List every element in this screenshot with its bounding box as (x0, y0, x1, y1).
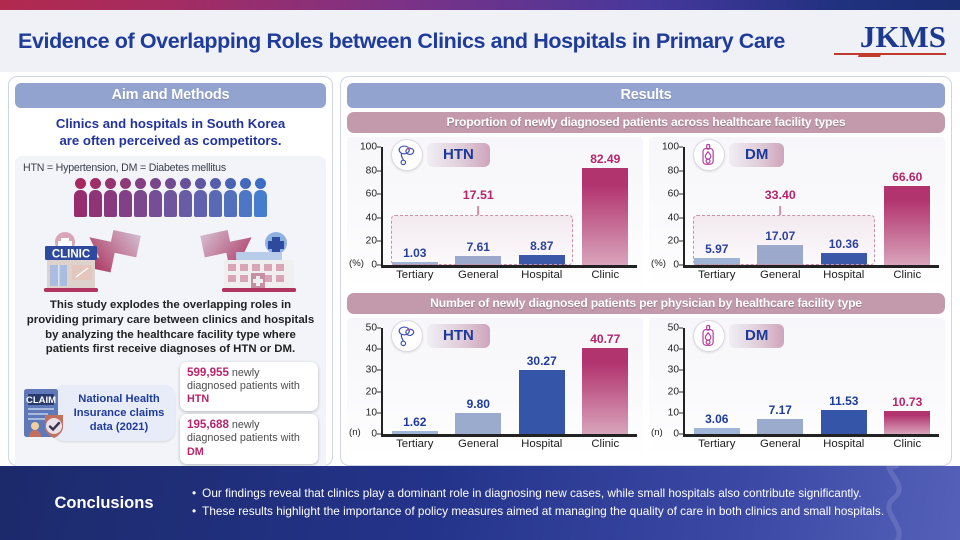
x-tick-label: General (447, 269, 511, 281)
clinic-sign-text: CLINIC (52, 249, 90, 261)
chart-dm-proportion: 020406080100(%)5.9717.0710.3666.6033.40T… (649, 137, 945, 289)
person-icon (149, 178, 163, 217)
y-axis-unit: (%) (651, 258, 666, 269)
annotation-dashed-box (693, 215, 876, 265)
claim-document-icon: CLAIM (23, 387, 65, 439)
conclusion-text: These results highlight the importance o… (202, 503, 884, 519)
person-icon (104, 178, 118, 217)
disease-badge: DM (693, 320, 784, 352)
jkms-logo-text: JKMS (826, 21, 946, 52)
y-tick-label: 10 (655, 407, 679, 418)
y-tick-label: 100 (655, 142, 679, 153)
x-tick-label: Clinic (876, 269, 940, 281)
jkms-logo: JKMS (826, 21, 946, 61)
x-tick-label: General (447, 438, 511, 450)
bullet-dot: • (192, 503, 196, 519)
bar-value-label: 66.60 (892, 170, 922, 184)
annotation-value: 17.51 (463, 188, 494, 202)
bar: 3.06 (694, 428, 740, 434)
person-icon (134, 178, 148, 217)
data-source-label: National Health Insurance claims data (2… (53, 385, 175, 441)
x-axis-labels: TertiaryGeneralHospitalClinic (685, 269, 939, 281)
x-tick-label: Clinic (574, 438, 638, 450)
data-source-group: CLAIM National Health In (23, 385, 175, 441)
x-axis-labels: TertiaryGeneralHospitalClinic (383, 269, 637, 281)
x-tick-label: Clinic (574, 269, 638, 281)
bar-value-label: 11.53 (829, 394, 858, 408)
y-tick-label: 80 (655, 165, 679, 176)
y-tick-label: 80 (353, 165, 377, 176)
chart-row-per-physician: 01020304050(n)1.629.8030.2740.77Tertiary… (347, 318, 945, 458)
glucometer-icon (693, 320, 725, 352)
aim-and-methods-panel: Aim and Methods Clinics and hospitals in… (8, 76, 333, 466)
aim-line-2: are often perceived as competitors. (21, 132, 320, 149)
y-tick-label: 100 (353, 142, 377, 153)
study-description: This study explodes the overlapping role… (23, 294, 318, 361)
blood-pressure-icon (391, 139, 423, 171)
stat-cards: 599,955 newly diagnosed patients with HT… (180, 362, 318, 464)
x-tick-label: Hospital (510, 269, 574, 281)
bar-cell: 40.77 (574, 328, 638, 434)
x-tick-label: Tertiary (685, 438, 749, 450)
person-icon (209, 178, 223, 217)
person-icon (164, 178, 178, 217)
x-tick-label: General (749, 269, 813, 281)
page-title: Evidence of Overlapping Roles between Cl… (18, 29, 826, 54)
bar: 82.49 (582, 168, 628, 265)
bar: 40.77 (582, 348, 628, 434)
bar: 11.53 (821, 410, 867, 434)
x-axis-line (381, 434, 637, 437)
bar-value-label: 1.62 (403, 415, 426, 429)
conclusions-title: Conclusions (16, 494, 192, 513)
y-tick-label: 50 (353, 323, 377, 334)
person-icon (89, 178, 103, 217)
x-axis-line (683, 434, 939, 437)
stat-disease: HTN (187, 393, 209, 405)
annotation-tick (779, 206, 781, 215)
y-tick-label: 50 (655, 323, 679, 334)
competition-illustration: CLINIC (23, 176, 318, 294)
disease-badge: DM (693, 139, 784, 171)
annotation-dashed-box (391, 215, 574, 265)
disease-badge: HTN (391, 139, 490, 171)
stat-card: 195,688 newly diagnosed patients with DM (180, 414, 318, 464)
y-tick-label: 60 (655, 189, 679, 200)
x-tick-label: Tertiary (383, 269, 447, 281)
disease-badge-label: HTN (427, 143, 490, 167)
y-tick-label: 10 (353, 407, 377, 418)
y-tick-label: 40 (353, 212, 377, 223)
x-tick-label: Hospital (812, 438, 876, 450)
clinic-building-icon: CLINIC (39, 232, 125, 294)
y-tick-label: 20 (655, 386, 679, 397)
patients-group-icon (74, 178, 268, 217)
poster-header: Evidence of Overlapping Roles between Cl… (0, 10, 960, 72)
x-tick-label: Hospital (510, 438, 574, 450)
y-axis-unit: (%) (349, 258, 364, 269)
chart-htn-proportion: 020406080100(%)1.037.618.8782.4917.51Ter… (347, 137, 643, 289)
chart-row-proportion: 020406080100(%)1.037.618.8782.4917.51Ter… (347, 137, 945, 289)
stat-number: 195,688 (187, 418, 229, 431)
bar-cell: 30.27 (510, 328, 574, 434)
methods-box: HTN = Hypertension, DM = Diabetes mellit… (15, 156, 326, 469)
claim-label-text: CLAIM (26, 395, 56, 406)
conclusion-bullet: •Our findings reveal that clinics play a… (192, 485, 884, 501)
x-axis-line (381, 265, 637, 268)
aim-statement: Clinics and hospitals in South Korea are… (15, 108, 326, 155)
data-source-row: CLAIM National Health In (23, 362, 318, 464)
aim-methods-header: Aim and Methods (15, 83, 326, 108)
x-tick-label: Clinic (876, 438, 940, 450)
conclusion-text: Our findings reveal that clinics play a … (202, 485, 861, 501)
bar: 66.60 (884, 186, 930, 265)
y-tick-label: 20 (353, 236, 377, 247)
person-icon (179, 178, 193, 217)
bar: 10.73 (884, 411, 930, 434)
bar: 30.27 (519, 370, 565, 434)
bullet-dot: • (192, 485, 196, 501)
results-subheader-proportion: Proportion of newly diagnosed patients a… (347, 112, 945, 133)
person-icon (254, 178, 268, 217)
bar: 7.17 (757, 419, 803, 434)
results-panel: Results Proportion of newly diagnosed pa… (340, 76, 952, 466)
hospital-building-icon (216, 232, 302, 294)
y-tick-label: 30 (353, 365, 377, 376)
x-tick-label: Hospital (812, 269, 876, 281)
stat-number: 599,955 (187, 366, 229, 379)
person-icon (194, 178, 208, 217)
person-icon (239, 178, 253, 217)
x-axis-line (683, 265, 939, 268)
results-header: Results (347, 83, 945, 108)
bar-value-label: 82.49 (590, 152, 620, 166)
chart-dm-per-physician: 01020304050(n)3.067.1711.5310.73Tertiary… (649, 318, 945, 458)
disease-badge-label: DM (729, 324, 784, 348)
y-tick-label: 20 (655, 236, 679, 247)
x-axis-labels: TertiaryGeneralHospitalClinic (685, 438, 939, 450)
y-axis-unit: (n) (651, 427, 663, 438)
stat-card: 599,955 newly diagnosed patients with HT… (180, 362, 318, 412)
bar-value-label: 7.17 (769, 403, 792, 417)
poster-body: Aim and Methods Clinics and hospitals in… (0, 72, 960, 466)
aim-line-1: Clinics and hospitals in South Korea (21, 115, 320, 132)
annotation-tick (477, 206, 479, 215)
person-icon (74, 178, 88, 217)
disease-badge-label: DM (729, 143, 784, 167)
bar-cell: 10.73 (876, 328, 940, 434)
x-tick-label: Tertiary (383, 438, 447, 450)
x-tick-label: General (749, 438, 813, 450)
abbreviation-note: HTN = Hypertension, DM = Diabetes mellit… (23, 162, 318, 174)
poster-root: Evidence of Overlapping Roles between Cl… (0, 0, 960, 540)
y-tick-label: 30 (655, 365, 679, 376)
conclusions-section: Conclusions •Our findings reveal that cl… (0, 466, 960, 540)
jkms-logo-swoosh (858, 46, 884, 57)
results-subheader-per-physician: Number of newly diagnosed patients per p… (347, 293, 945, 314)
chart-htn-per-physician: 01020304050(n)1.629.8030.2740.77Tertiary… (347, 318, 643, 458)
y-tick-label: 40 (655, 344, 679, 355)
bar-value-label: 9.80 (467, 397, 490, 411)
x-tick-label: Tertiary (685, 269, 749, 281)
annotation-value: 33.40 (765, 188, 796, 202)
conclusions-list: •Our findings reveal that clinics play a… (192, 485, 884, 522)
top-gradient-bar (0, 0, 960, 10)
bar-value-label: 40.77 (590, 332, 620, 346)
y-tick-label: 60 (353, 189, 377, 200)
bar-value-label: 30.27 (527, 354, 557, 368)
bar-cell: 66.60 (876, 147, 940, 265)
disease-badge: HTN (391, 320, 490, 352)
y-axis-unit: (n) (349, 427, 361, 438)
bar: 1.62 (392, 431, 438, 434)
person-icon (119, 178, 133, 217)
y-tick-label: 20 (353, 386, 377, 397)
caduceus-icon (846, 466, 942, 540)
glucometer-icon (693, 139, 725, 171)
bar: 9.80 (455, 413, 501, 434)
person-icon (224, 178, 238, 217)
y-tick-label: 40 (655, 212, 679, 223)
conclusion-bullet: •These results highlight the importance … (192, 503, 884, 519)
stat-disease: DM (187, 446, 204, 458)
bar-cell: 11.53 (812, 328, 876, 434)
y-tick-label: 40 (353, 344, 377, 355)
x-axis-labels: TertiaryGeneralHospitalClinic (383, 438, 637, 450)
disease-badge-label: HTN (427, 324, 490, 348)
bar-value-label: 3.06 (705, 412, 728, 426)
bar-cell: 82.49 (574, 147, 638, 265)
blood-pressure-icon (391, 320, 423, 352)
bar-value-label: 10.73 (892, 395, 922, 409)
